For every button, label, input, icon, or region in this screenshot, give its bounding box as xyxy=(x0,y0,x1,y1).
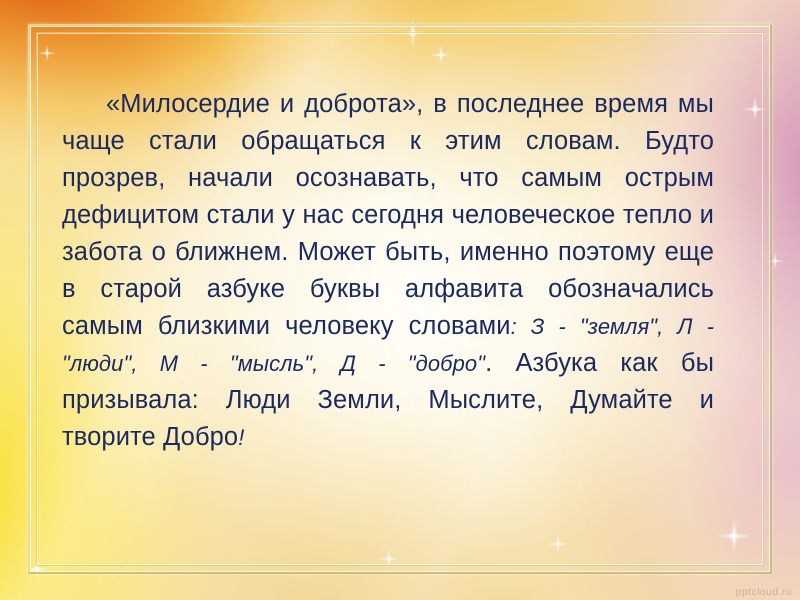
sparkle-icon-top-right xyxy=(430,44,452,66)
sparkle-icon-bottom-center xyxy=(378,548,400,570)
sparkle-icon-top-center xyxy=(398,18,428,48)
sparkle-icon-right-upper xyxy=(742,96,768,122)
site-watermark: pptcloud.ru xyxy=(736,587,792,598)
body-segment-exclamation: ! xyxy=(238,425,244,450)
body-segment-intro: «Милосердие и доброта», в последнее врем… xyxy=(62,90,714,340)
sparkle-icon-bottom-left xyxy=(24,556,50,582)
slide-body-text: «Милосердие и доброта», в последнее врем… xyxy=(62,86,714,456)
body-paragraph: «Милосердие и доброта», в последнее врем… xyxy=(62,86,714,456)
sparkle-icon-left-upper xyxy=(38,44,56,62)
slide-canvas: «Милосердие и доброта», в последнее врем… xyxy=(0,0,800,600)
sparkle-icon-right-mid xyxy=(766,252,784,270)
sparkle-icon-bottom-right-inner xyxy=(548,534,568,554)
sparkle-icon-bottom-right xyxy=(716,518,752,554)
